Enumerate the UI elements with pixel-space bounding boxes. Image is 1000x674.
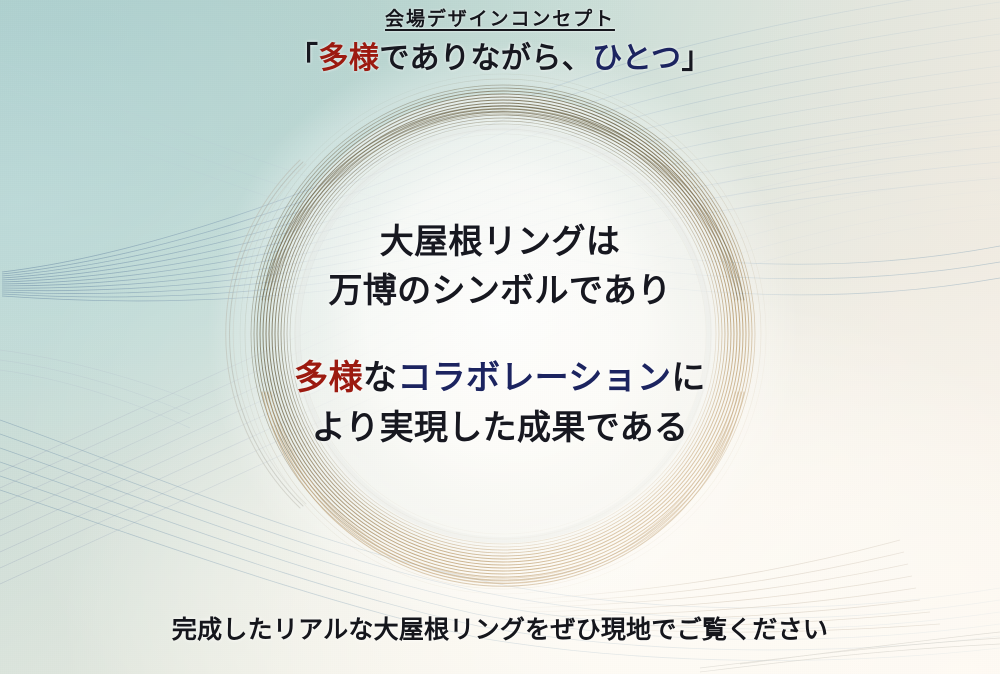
main-emphasis-diversity: 多様 <box>294 359 363 397</box>
main-message-line-4: より実現した成果である <box>0 400 1000 449</box>
quote-emphasis-diversity: 多様 <box>318 42 379 75</box>
footer-invitation-note: 完成したリアルな大屋根リングをぜひ現地でご覧ください <box>0 610 1000 646</box>
main-message-line-1: 大屋根リングは <box>0 214 1000 263</box>
quote-emphasis-unity: ひとつ <box>592 42 681 75</box>
main-emphasis-collaboration: コラボレーション <box>397 359 671 397</box>
paper-noise-texture <box>0 0 1000 674</box>
concept-quote: 「多様でありながら、ひとつ」 <box>0 33 1000 77</box>
quote-open-bracket: 「 <box>288 42 318 75</box>
main-message-line-2: 万博のシンボルであり <box>0 263 1000 312</box>
concept-label: 会場デザインコンセプト <box>0 4 1000 31</box>
main-line3-particle-na: な <box>363 359 397 397</box>
main-line3-particle-ni: に <box>671 359 705 397</box>
quote-middle-text: でありながら、 <box>379 42 592 75</box>
main-message-line-3: 多様なコラボレーションに <box>0 350 1000 399</box>
quote-close-bracket: 」 <box>682 42 712 75</box>
presentation-slide: 会場デザインコンセプト 「多様でありながら、ひとつ」 大屋根リングは 万博のシン… <box>0 0 1000 674</box>
